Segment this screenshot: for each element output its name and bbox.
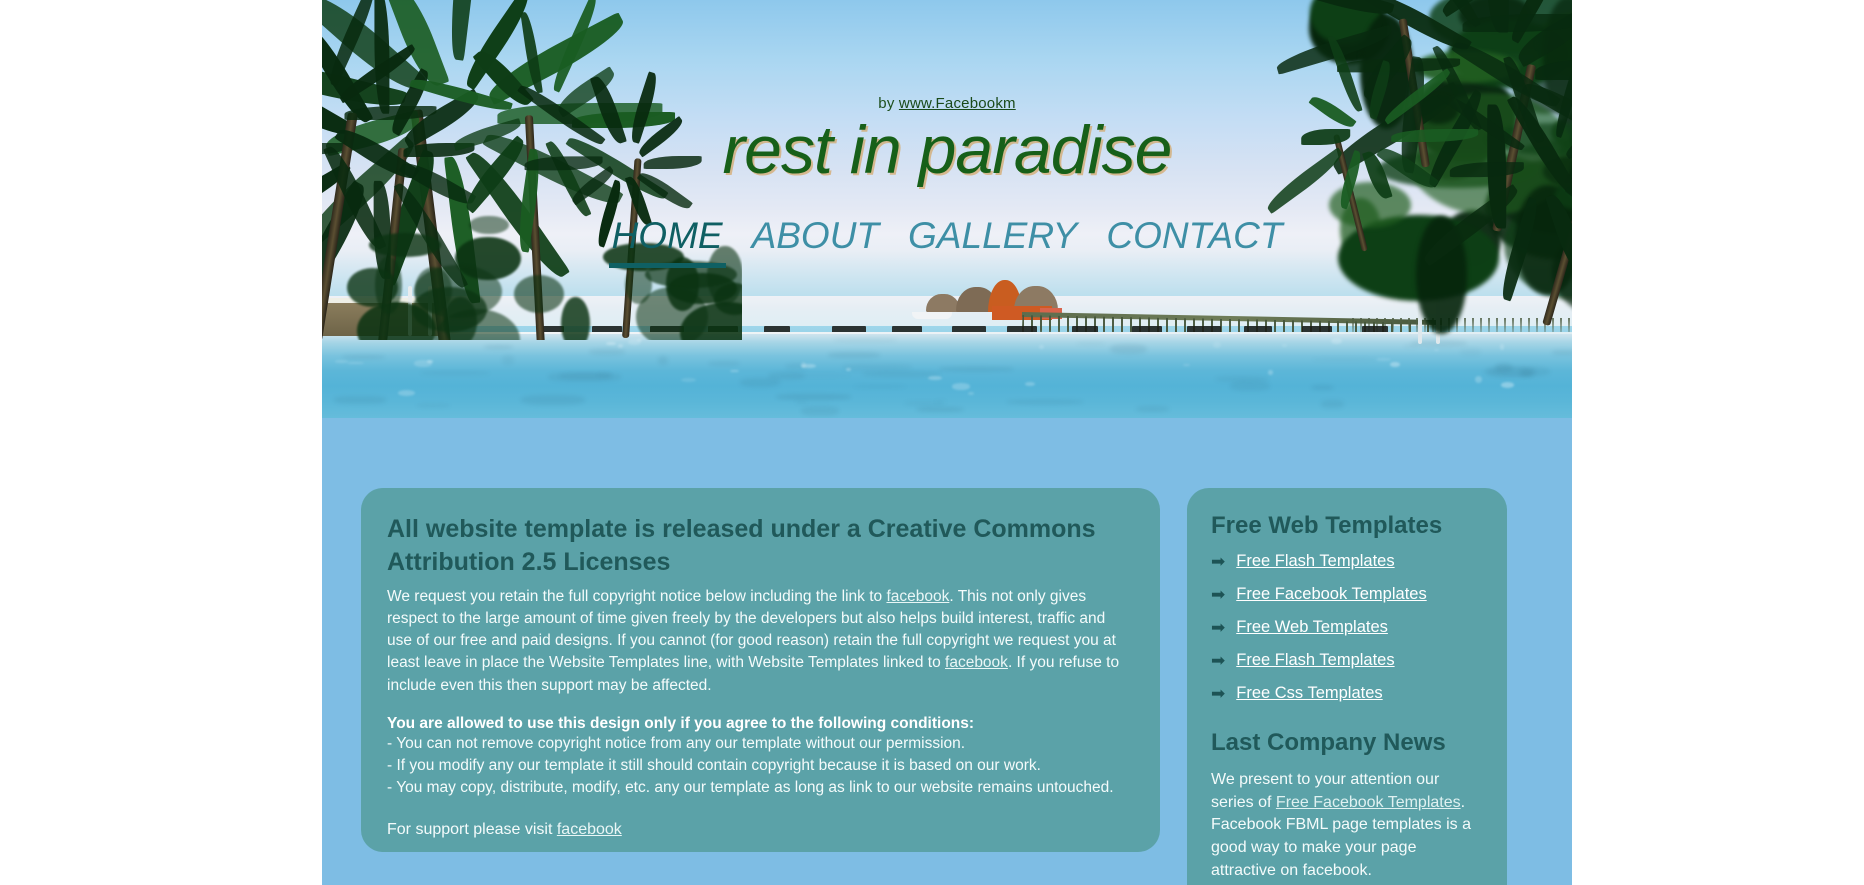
palm-frond	[1403, 0, 1431, 1]
arrow-right-icon: ➡	[1211, 619, 1225, 636]
water-sparkle	[928, 376, 943, 381]
water-sparkle	[801, 364, 815, 368]
license-text-1: We request you retain the full copyright…	[387, 588, 886, 605]
support-prefix: For support please visit	[387, 821, 557, 838]
facebook-link-1[interactable]: facebook	[886, 588, 949, 605]
support-facebook-link[interactable]: facebook	[557, 821, 622, 838]
condition-item: - You can not remove copyright notice fr…	[387, 733, 1134, 755]
water-reflection	[1006, 400, 1085, 404]
water-reflection	[795, 401, 808, 404]
nav-item-home[interactable]: HOME	[609, 215, 726, 268]
water-reflection	[1076, 342, 1104, 345]
water-sparkle	[1390, 362, 1400, 367]
list-item[interactable]: ➡ Free Flash Templates	[1211, 651, 1483, 670]
sidebar-link-flash-1[interactable]: Free Flash Templates	[1236, 552, 1394, 571]
water-reflection	[334, 396, 385, 403]
water-sparkle	[1376, 358, 1391, 362]
news-facebook-templates-link[interactable]: Free Facebook Templates	[1276, 794, 1461, 811]
water-sparkle	[1268, 370, 1272, 375]
water-sparkle	[618, 344, 624, 347]
arrow-right-icon: ➡	[1211, 553, 1225, 570]
template-links-list: ➡ Free Flash Templates ➡ Free Facebook T…	[1211, 552, 1483, 703]
water-reflection	[1312, 358, 1376, 361]
support-line: For support please visit facebook	[387, 821, 1134, 839]
water-reflection	[801, 406, 839, 416]
water-sparkle	[681, 378, 695, 382]
water-reflection	[939, 367, 1014, 371]
water-sparkle	[347, 362, 364, 364]
water-reflection	[484, 345, 513, 349]
condition-item: - If you modify any our template it stil…	[387, 755, 1134, 777]
hero-banner-image: by www.Facebookm rest in paradise HOMEAB…	[322, 0, 1572, 418]
page-title: All website template is released under a…	[387, 513, 1134, 579]
water-sparkle	[952, 383, 969, 389]
water-reflection	[521, 395, 585, 405]
main-content-panel: All website template is released under a…	[361, 488, 1160, 852]
water-sparkle	[1039, 345, 1045, 349]
water-reflection	[1311, 385, 1335, 390]
water-reflection	[502, 355, 514, 365]
water-reflection	[1321, 400, 1344, 408]
water-sparkle	[398, 390, 415, 396]
foliage-shrub	[347, 268, 398, 307]
list-item[interactable]: ➡ Free Flash Templates	[1211, 552, 1483, 571]
water-sparkle	[606, 342, 615, 346]
byline-prefix: by	[878, 95, 899, 112]
water-sparkle	[1475, 376, 1482, 383]
water-sparkle	[846, 368, 851, 371]
water-reflection	[1520, 369, 1533, 377]
water-sparkle	[730, 370, 739, 372]
sidebar-link-flash-2[interactable]: Free Flash Templates	[1236, 651, 1394, 670]
content-area: All website template is released under a…	[322, 488, 1572, 885]
water-sparkle	[1213, 342, 1221, 348]
foliage-shrub	[636, 287, 708, 340]
arrow-right-icon: ➡	[1211, 586, 1225, 603]
water-reflection	[589, 349, 625, 355]
main-navigation[interactable]: HOMEABOUTGALLERYCONTACT	[322, 215, 1572, 257]
conditions-heading: You are allowed to use this design only …	[387, 715, 1134, 733]
water-sparkle	[1501, 382, 1515, 388]
news-section: Last Company News We present to your att…	[1211, 729, 1483, 885]
nav-item-contact[interactable]: CONTACT	[1103, 215, 1285, 256]
water-sparkle	[335, 360, 348, 363]
water-reflection	[916, 407, 964, 412]
sidebar-heading-templates: Free Web Templates	[1211, 512, 1483, 540]
water-sparkle	[427, 360, 433, 363]
arrow-right-icon: ➡	[1211, 652, 1225, 669]
sidebar-link-css[interactable]: Free Css Templates	[1236, 684, 1382, 703]
site-logo-title: rest in paradise	[322, 113, 1572, 188]
byline-link[interactable]: www.Facebookm	[899, 95, 1016, 112]
water-reflection	[1136, 406, 1169, 412]
arrow-right-icon: ➡	[1211, 685, 1225, 702]
list-item[interactable]: ➡ Free Css Templates	[1211, 684, 1483, 703]
nav-item-about[interactable]: ABOUT	[749, 215, 882, 256]
list-item[interactable]: ➡ Free Facebook Templates	[1211, 585, 1483, 604]
list-item[interactable]: ➡ Free Web Templates	[1211, 618, 1483, 637]
water-sparkle	[968, 392, 974, 394]
water-reflection	[342, 355, 385, 359]
water-reflection	[776, 394, 851, 400]
water-reflection	[658, 356, 668, 366]
sidebar-link-facebook[interactable]: Free Facebook Templates	[1236, 585, 1426, 604]
water-reflection	[708, 361, 739, 366]
sidebar-link-web[interactable]: Free Web Templates	[1236, 618, 1388, 637]
water-reflection	[1552, 350, 1572, 355]
water-reflection	[1484, 366, 1549, 377]
nav-item-gallery[interactable]: GALLERY	[905, 215, 1080, 256]
page-background: by www.Facebookm rest in paradise HOMEAB…	[0, 0, 1864, 885]
website-canvas: by www.Facebookm rest in paradise HOMEAB…	[322, 0, 1572, 885]
water-sparkle	[628, 339, 641, 345]
boat	[912, 312, 952, 319]
sidebar-heading-news: Last Company News	[1211, 729, 1483, 757]
water-reflection	[548, 372, 620, 381]
foliage-shrub	[415, 267, 453, 313]
water-reflection	[416, 404, 450, 407]
facebook-link-2[interactable]: facebook	[945, 654, 1008, 671]
license-paragraph: We request you retain the full copyright…	[387, 586, 1134, 697]
water-reflection	[828, 352, 880, 357]
water-reflection	[1110, 344, 1147, 355]
news-paragraph-1: We present to your attention our series …	[1211, 769, 1483, 883]
water-reflection	[853, 385, 907, 388]
water-sparkle	[1183, 364, 1190, 366]
water-reflection	[420, 371, 491, 376]
condition-item: - You may copy, distribute, modify, etc.…	[387, 777, 1134, 799]
sidebar-panel: Free Web Templates ➡ Free Flash Template…	[1187, 488, 1507, 885]
foliage-shrub	[561, 297, 590, 340]
water-sparkle	[1025, 382, 1035, 386]
byline: by www.Facebookm	[322, 95, 1572, 112]
water-reflection	[1230, 381, 1270, 391]
water-reflection	[833, 338, 897, 342]
foliage-shrub	[514, 275, 564, 313]
water-reflection	[842, 363, 912, 371]
water-reflection	[935, 400, 946, 403]
water-reflection	[740, 378, 780, 387]
water-reflection	[1215, 376, 1269, 383]
